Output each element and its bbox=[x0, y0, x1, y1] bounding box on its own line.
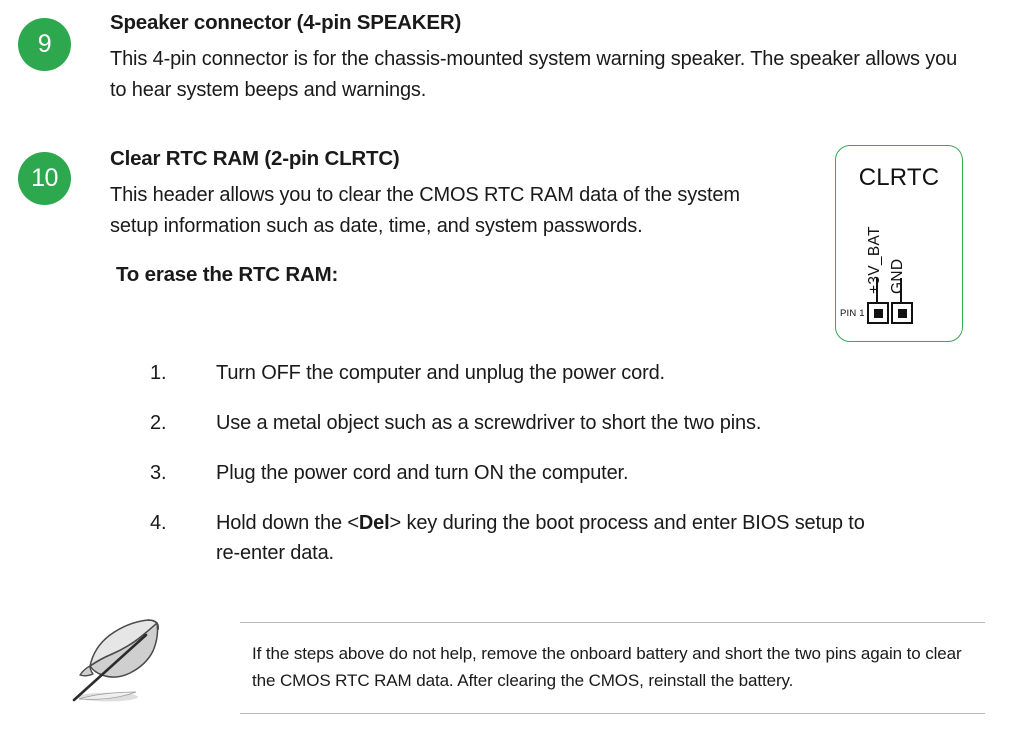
clrtc-connector-pins bbox=[867, 302, 913, 324]
clrtc-pin-label-gnd: GND bbox=[889, 259, 907, 294]
step-text: Turn OFF the computer and unplug the pow… bbox=[216, 358, 870, 388]
list-item: 4. Hold down the <Del> key during the bo… bbox=[150, 508, 870, 568]
step-number: 3. bbox=[150, 458, 216, 488]
clrtc-lead-line-left bbox=[876, 278, 878, 304]
section-10-body: This header allows you to clear the CMOS… bbox=[110, 180, 775, 241]
step-text: Plug the power cord and turn ON the comp… bbox=[216, 458, 870, 488]
clrtc-diagram: CLRTC +3V_BAT GND PIN 1 bbox=[835, 145, 963, 342]
section-10-title: Clear RTC RAM (2-pin CLRTC) bbox=[110, 146, 775, 172]
step-number: 2. bbox=[150, 408, 216, 438]
step-number: 1. bbox=[150, 358, 216, 388]
rtc-erase-steps: 1. Turn OFF the computer and unplug the … bbox=[110, 358, 870, 568]
step-text: Hold down the <Del> key during the boot … bbox=[216, 508, 870, 568]
step-number: 4. bbox=[150, 508, 216, 568]
clrtc-diagram-title: CLRTC bbox=[836, 164, 962, 192]
list-item: 3. Plug the power cord and turn ON the c… bbox=[150, 458, 870, 488]
note-box: If the steps above do not help, remove t… bbox=[240, 622, 985, 714]
section-badge-10: 10 bbox=[18, 152, 71, 205]
note-pencil-icon bbox=[60, 613, 172, 713]
list-item: 2. Use a metal object such as a screwdri… bbox=[150, 408, 870, 438]
clrtc-pin-label-3v-bat: +3V_BAT bbox=[866, 226, 884, 294]
clrtc-pin1-label: PIN 1 bbox=[840, 308, 865, 319]
note-bottom-rule bbox=[240, 713, 985, 714]
section-speaker-connector: Speaker connector (4-pin SPEAKER) This 4… bbox=[110, 10, 960, 105]
clrtc-pin-1 bbox=[867, 302, 889, 324]
clrtc-lead-line-right bbox=[900, 278, 902, 304]
pin-dot-icon bbox=[898, 309, 907, 318]
manual-page: 9 Speaker connector (4-pin SPEAKER) This… bbox=[0, 0, 1025, 752]
pin-dot-icon bbox=[874, 309, 883, 318]
section-9-title: Speaker connector (4-pin SPEAKER) bbox=[110, 10, 960, 36]
step-text: Use a metal object such as a screwdriver… bbox=[216, 408, 870, 438]
section-badge-9: 9 bbox=[18, 18, 71, 71]
erase-rtc-subheading: To erase the RTC RAM: bbox=[116, 263, 775, 287]
note-text: If the steps above do not help, remove t… bbox=[240, 623, 985, 713]
section-9-body: This 4-pin connector is for the chassis-… bbox=[110, 44, 960, 105]
clrtc-pin-2 bbox=[891, 302, 913, 324]
list-item: 1. Turn OFF the computer and unplug the … bbox=[150, 358, 870, 388]
section-clear-rtc-ram: Clear RTC RAM (2-pin CLRTC) This header … bbox=[110, 146, 775, 287]
